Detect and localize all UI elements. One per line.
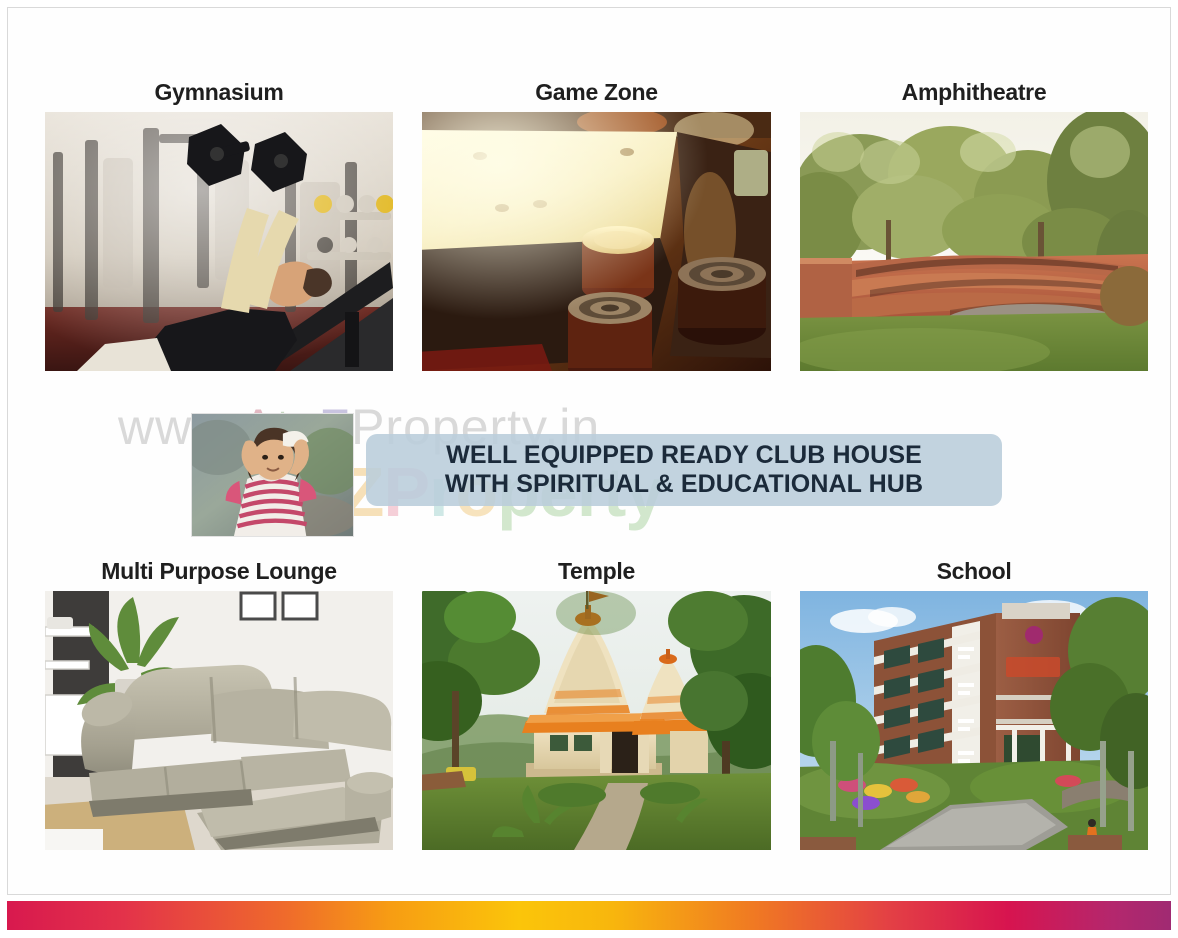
girl-illustration (192, 414, 353, 536)
amenity-card-school[interactable]: School (800, 559, 1148, 850)
amenity-card-temple[interactable]: Temple (422, 559, 771, 850)
game-zone-illustration (422, 112, 771, 371)
lounge-illustration (45, 591, 393, 850)
center-photo-girl (191, 413, 354, 537)
amenity-card-gymnasium[interactable]: Gymnasium (45, 80, 393, 371)
amenity-title-multi-purpose-lounge: Multi Purpose Lounge (45, 559, 393, 584)
amenity-title-amphitheatre: Amphitheatre (800, 80, 1148, 105)
headline-banner: WELL EQUIPPED READY CLUB HOUSE WITH SPIR… (366, 434, 1002, 506)
amenity-title-gymnasium: Gymnasium (45, 80, 393, 105)
school-illustration (800, 591, 1148, 850)
amenity-card-amphitheatre[interactable]: Amphitheatre (800, 80, 1148, 371)
bottom-gradient-bar (7, 901, 1171, 930)
amenity-title-temple: Temple (422, 559, 771, 584)
amenity-photo-game-zone (422, 112, 771, 371)
headline-line-1: WELL EQUIPPED READY CLUB HOUSE (446, 441, 922, 471)
amenity-photo-school (800, 591, 1148, 850)
amenity-photo-temple (422, 591, 771, 850)
amenity-card-game-zone[interactable]: Game Zone (422, 80, 771, 371)
temple-illustration (422, 591, 771, 850)
amenity-photo-amphitheatre (800, 112, 1148, 371)
slide-page: www.AtoZProperty.in AtoZProperty Gymnasi… (0, 0, 1178, 938)
amenity-photo-multi-purpose-lounge (45, 591, 393, 850)
headline-line-2: WITH SPIRITUAL & EDUCATIONAL HUB (445, 470, 923, 500)
amenity-title-game-zone: Game Zone (422, 80, 771, 105)
gymnasium-illustration (45, 112, 393, 371)
amenity-title-school: School (800, 559, 1148, 584)
amphitheatre-illustration (800, 112, 1148, 371)
amenity-photo-gymnasium (45, 112, 393, 371)
amenity-card-multi-purpose-lounge[interactable]: Multi Purpose Lounge (45, 559, 393, 850)
